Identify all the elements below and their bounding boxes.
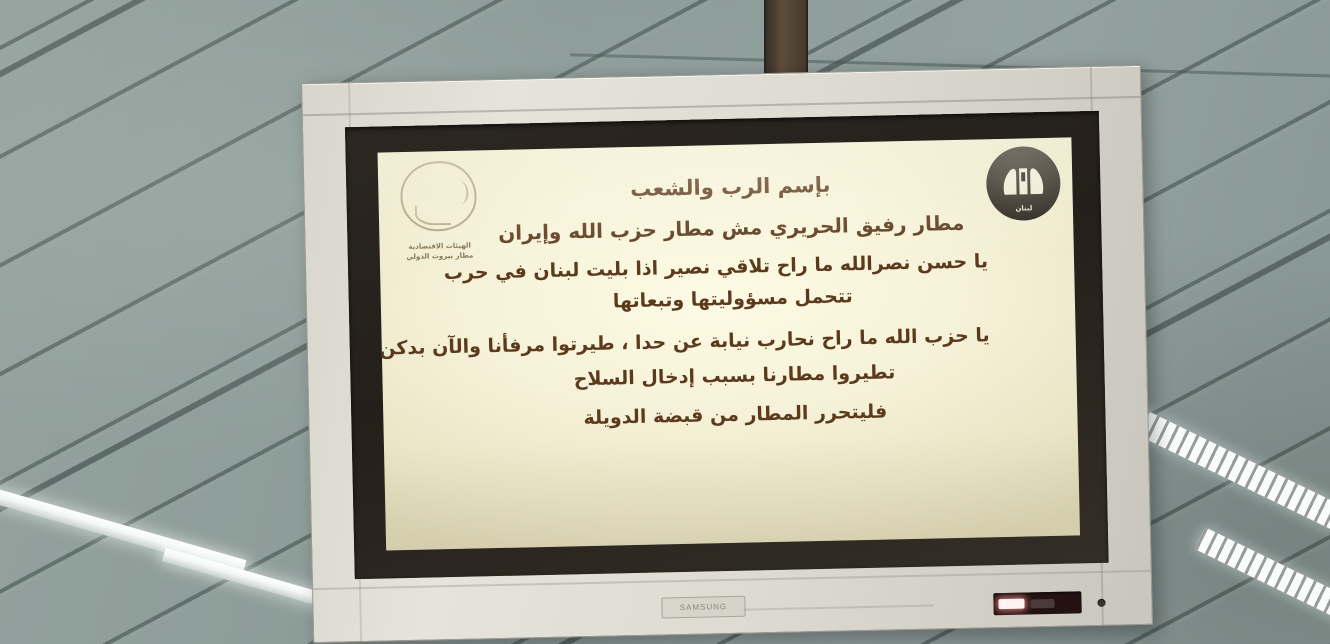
announcement-line-6: فليتحرر المطار من قبضة الدويلة xyxy=(479,398,991,431)
standby-led-icon xyxy=(1030,598,1054,608)
display-brand-label: SAMSUNG xyxy=(661,596,745,619)
announcement-line-1: مطار رفيق الحريري مش مطار حزب الله وإيرا… xyxy=(475,210,987,245)
display-inner-bezel: الهيئات الاقتصادية مطار بيروت الدولي xyxy=(345,111,1109,579)
announcement-text-block: بإسم الرب والشعب مطار رفيق الحريري مش مط… xyxy=(474,169,991,431)
display-outer-frame: الهيئات الاقتصادية مطار بيروت الدولي xyxy=(301,65,1153,643)
announcement-line-2: يا حسن نصرالله ما راح تلاقي نصير اذا بلي… xyxy=(476,250,988,283)
announcement-line-5: تطيروا مطارنا بسبب إدخال السلاح xyxy=(478,359,990,392)
cedar-emblem-logo: لبنان xyxy=(986,146,1062,222)
display-brand-text: SAMSUNG xyxy=(680,602,728,612)
circular-outline-icon xyxy=(400,160,478,232)
announcement-slide: الهيئات الاقتصادية مطار بيروت الدولي xyxy=(378,137,1081,550)
display-indicator-panel xyxy=(993,591,1081,615)
ir-sensor-icon xyxy=(1097,599,1105,607)
announcement-line-4: يا حزب الله ما راح نحارب نيابة عن حدا ، … xyxy=(478,324,990,357)
cedar-tree-icon xyxy=(996,160,1051,201)
announcement-title: بإسم الرب والشعب xyxy=(474,169,986,204)
watermark-caption: الهيئات الاقتصادية مطار بيروت الدولي xyxy=(393,240,485,262)
display-screen[interactable]: الهيئات الاقتصادية مطار بيروت الدولي xyxy=(378,137,1081,550)
emblem-caption: لبنان xyxy=(987,204,1061,214)
announcement-line-3: تتحمل مسؤوليتها وتبعاتها xyxy=(477,282,989,315)
screenshot-scene: الهيئات الاقتصادية مطار بيروت الدولي xyxy=(0,0,1330,644)
watermark-circular-logo: الهيئات الاقتصادية مطار بيروت الدولي xyxy=(392,160,486,262)
bezel-seam-line xyxy=(744,605,934,611)
power-led-icon xyxy=(998,599,1024,610)
flat-panel-display[interactable]: الهيئات الاقتصادية مطار بيروت الدولي xyxy=(301,65,1153,643)
